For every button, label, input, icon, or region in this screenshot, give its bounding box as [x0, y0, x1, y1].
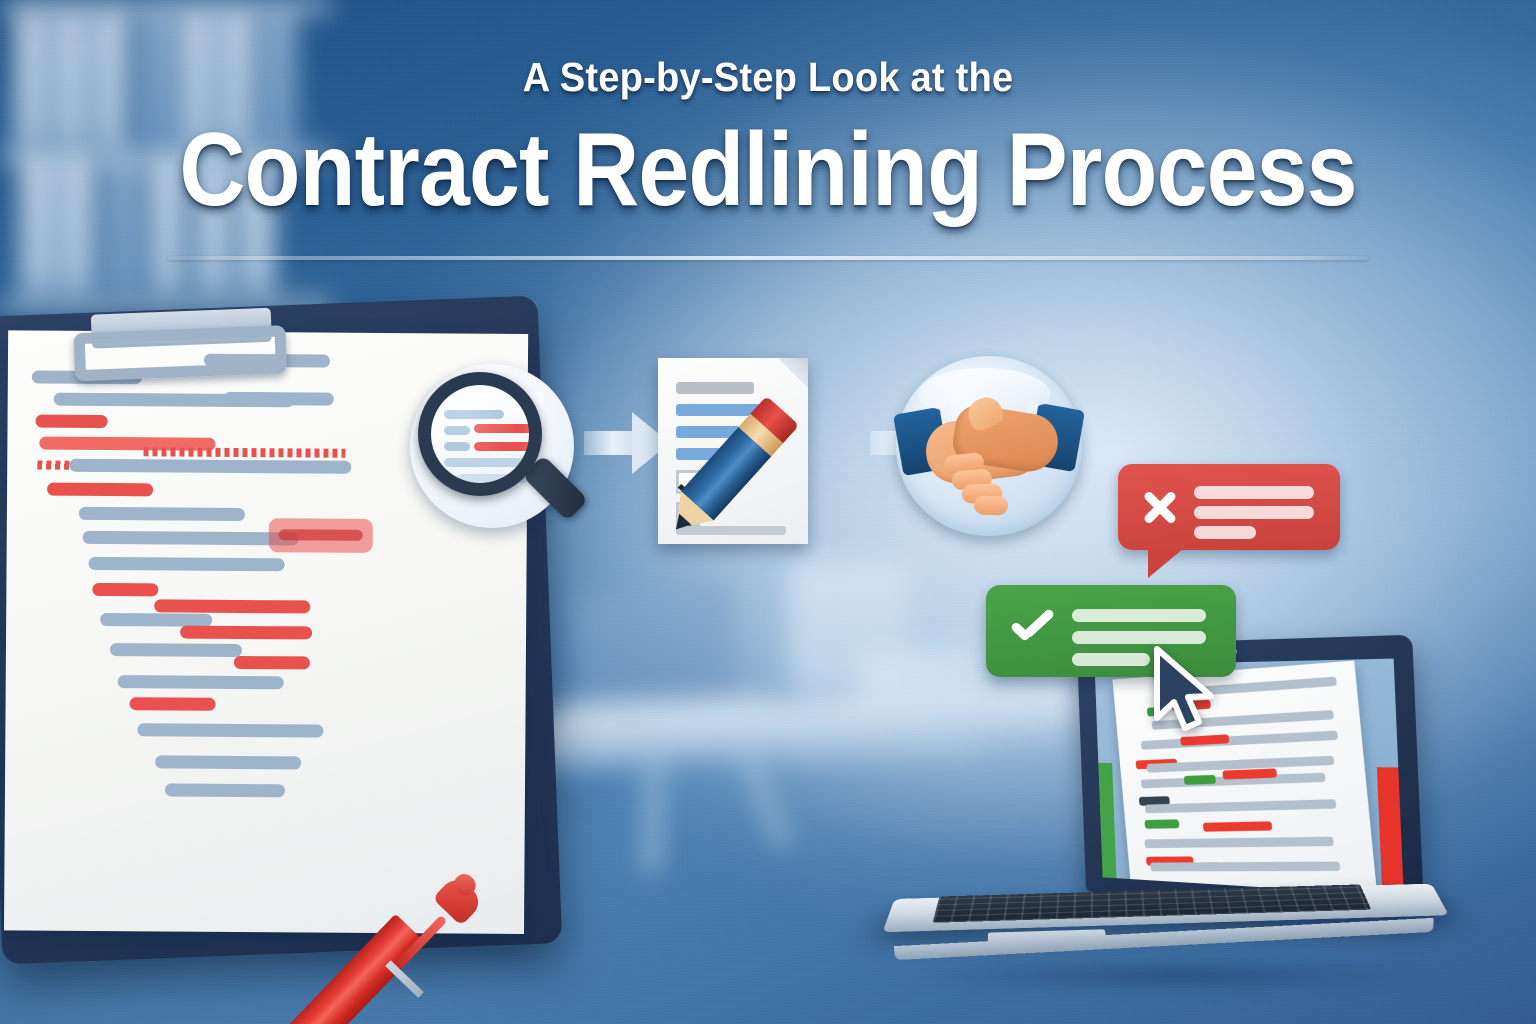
document-line [180, 626, 312, 640]
document-line [234, 656, 310, 670]
check-mark-icon [1008, 609, 1056, 653]
title-kicker: A Step-by-Step Look at the [54, 54, 1482, 101]
document-line [137, 723, 323, 737]
document-line [69, 459, 351, 474]
process-step-row [404, 352, 1084, 548]
page-title: Contract Redlining Process [92, 117, 1444, 223]
red-pen-icon [292, 875, 531, 1024]
document-line [143, 447, 345, 457]
document-line [110, 643, 242, 657]
page-title-block: A Step-by-Step Look at the Contract Redl… [0, 54, 1536, 223]
clipboard-clip-icon [73, 307, 287, 381]
screen-document-line [1144, 837, 1334, 848]
document-line [269, 518, 373, 553]
process-step-agree[interactable] [896, 356, 1082, 536]
x-mark-icon [1138, 486, 1180, 528]
rejected-change-bubble[interactable] [1118, 464, 1340, 550]
screen-document-line [1144, 819, 1179, 828]
process-step-review[interactable] [404, 358, 580, 534]
process-step-edit[interactable] [644, 352, 829, 548]
document-line [89, 557, 285, 571]
poster-canvas: A Step-by-Step Look at the Contract Redl… [0, 0, 1536, 1024]
screen-document-line [1145, 799, 1337, 813]
title-divider [168, 256, 1368, 260]
document-line [92, 583, 158, 596]
mouse-pointer-icon[interactable] [1152, 646, 1218, 734]
document-line [118, 675, 284, 689]
laptop-screen [1095, 659, 1404, 896]
magnifying-glass-icon [418, 372, 542, 496]
screen-document-line [1184, 775, 1216, 785]
document-line [224, 392, 334, 406]
document-line [83, 531, 299, 546]
screen-accept-strip [1098, 763, 1116, 878]
laptop-shadow [918, 958, 1438, 994]
document-line [155, 755, 301, 769]
screen-document-line [1150, 862, 1340, 872]
document-line [130, 697, 216, 711]
document-line [79, 507, 245, 521]
document-line [36, 415, 108, 429]
document-line [47, 483, 153, 497]
screen-document-line [1203, 821, 1272, 831]
document-line [154, 599, 310, 613]
document-line [165, 783, 285, 797]
screen-reject-strip [1377, 767, 1404, 896]
